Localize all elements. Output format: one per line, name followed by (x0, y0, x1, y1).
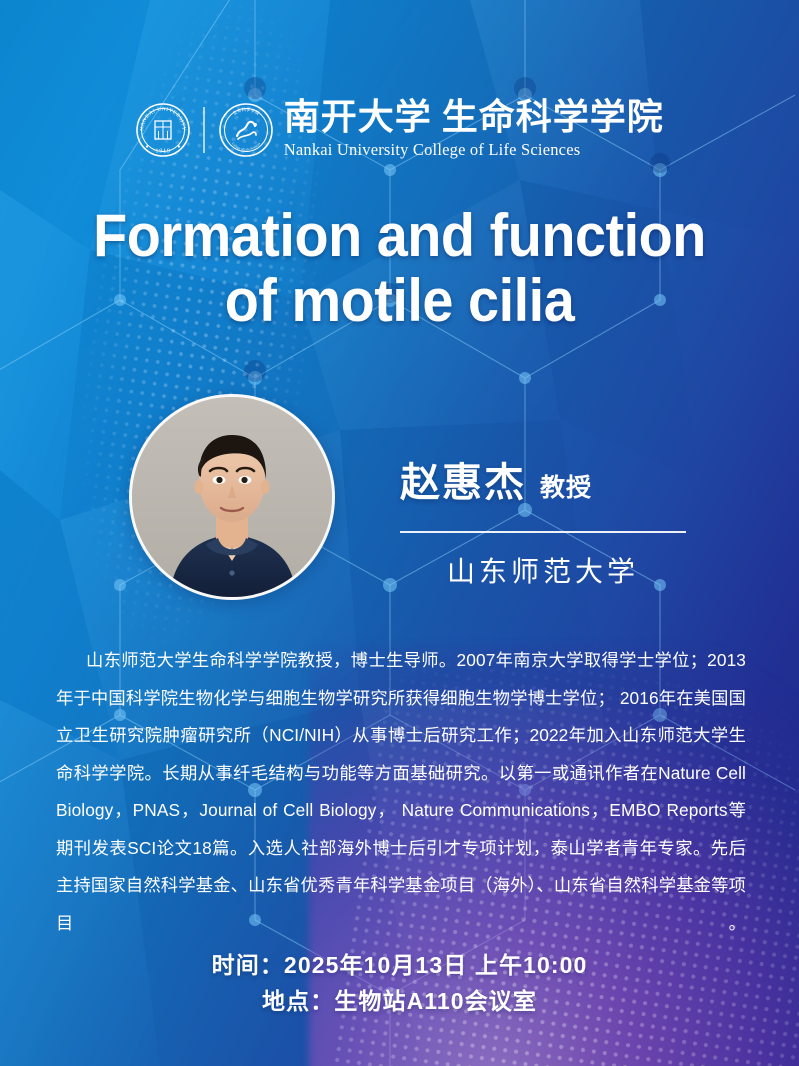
speaker-academic-title: 教授 (540, 468, 592, 504)
speaker-name: 赵惠杰 (400, 450, 526, 508)
title-line-2: of motile cilia (225, 267, 575, 334)
portrait-illustration (132, 397, 332, 597)
speaker-info: 赵惠杰 教授 山东师范大学 (400, 450, 730, 590)
speaker-divider (400, 531, 686, 533)
institution-logo-row: 1919 NANKAI UNIVERSITY 生命科学学院 College of… (0, 99, 799, 160)
svg-text:College of Life Sciences: College of Life Sciences (231, 141, 262, 151)
logo-divider (203, 107, 205, 153)
speaker-biography: 山东师范大学生命科学学院教授，博士生导师。2007年南京大学取得学士学位；201… (56, 642, 746, 942)
biography-text: 山东师范大学生命科学学院教授，博士生导师。2007年南京大学取得学士学位；201… (56, 642, 746, 942)
nankai-university-seal: 1919 NANKAI UNIVERSITY (135, 102, 191, 158)
speaker-organization: 山东师范大学 (400, 550, 686, 590)
page-title: Formation and function of motile cilia (28, 204, 771, 334)
seminar-poster: 1919 NANKAI UNIVERSITY 生命科学学院 College of… (0, 0, 799, 1066)
event-details: 时间：2025年10月13日 上午10:00 地点：生物站A110会议室 (0, 947, 799, 1019)
speaker-photo (129, 394, 335, 600)
logo-chinese-name: 南开大学 生命科学学院 (284, 99, 664, 135)
event-location: 地点：生物站A110会议室 (0, 983, 799, 1019)
svg-text:生命科学学院: 生命科学学院 (231, 105, 261, 116)
speaker-name-row: 赵惠杰 教授 (400, 450, 730, 508)
college-of-life-sciences-seal: 生命科学学院 College of Life Sciences (218, 102, 274, 158)
svg-text:1919: 1919 (156, 147, 171, 154)
logo-wordmark: 南开大学 生命科学学院 Nankai University College of… (284, 99, 664, 160)
event-time: 时间：2025年10月13日 上午10:00 (0, 947, 799, 983)
logo-english-name: Nankai University College of Life Scienc… (284, 140, 664, 160)
title-line-1: Formation and function (93, 202, 706, 269)
